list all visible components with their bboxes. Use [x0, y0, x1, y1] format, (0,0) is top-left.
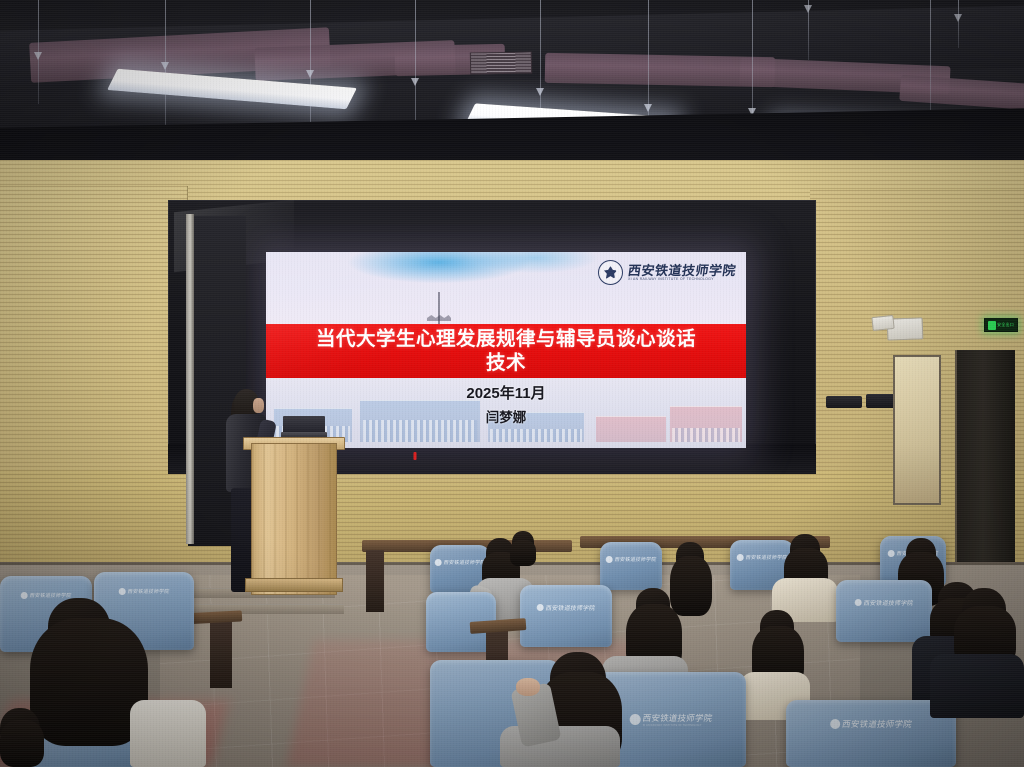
- seat-school-logo: 西安铁道技师学院: [21, 592, 72, 599]
- school-seal-icon: [598, 260, 623, 285]
- seat-school-logo: 西安铁道技师学院: [737, 554, 788, 561]
- desk-end-panel: [366, 550, 384, 612]
- seat-school-logo: 西安铁道技师学院 XI AN RAILWAY INSTITUTE OF TECH…: [630, 712, 713, 727]
- wall-bracket: [871, 315, 894, 331]
- seat-school-logo: 西安铁道技师学院: [855, 598, 914, 607]
- laptop-screen: [283, 416, 325, 433]
- seat-school-logo: 西安铁道技师学院: [119, 588, 170, 595]
- person-hair: [0, 720, 44, 767]
- seat-logo-text: 西安铁道技师学院: [841, 718, 913, 730]
- projection-screen: 西安铁道技师学院 XI AN RAILWAY INSTITUTE OF TECH…: [266, 252, 746, 448]
- seat-seal-icon: [435, 559, 442, 566]
- seat-logo-text: 西安铁道技师学院: [443, 559, 486, 566]
- campus-building-windows: [490, 429, 582, 442]
- slide-date: 2025年11月: [266, 382, 746, 403]
- air-vent-grille: [470, 51, 532, 74]
- podium-wood-grain: [252, 444, 336, 594]
- seat-seal-icon: [888, 550, 895, 557]
- seat-logo-text: 西安铁道技师学院: [127, 588, 170, 595]
- running-person-icon: [988, 321, 996, 330]
- lecture-hall-photo: 西安铁道技师学院 XI AN RAILWAY INSTITUTE OF TECH…: [0, 0, 1024, 767]
- seat-school-logo: 西安铁道技师学院: [537, 603, 596, 612]
- seat-seal-icon: [21, 592, 28, 599]
- seat-logo-text: 西安铁道技师学院: [545, 603, 596, 612]
- exit-sign-label: 安全出口: [997, 322, 1014, 328]
- exit-door[interactable]: [955, 350, 1015, 580]
- hanger-rod: [930, 0, 931, 126]
- seat-seal-icon: [537, 604, 544, 611]
- slide-title-banner: 当代大学生心理发展规律与辅导员谈心谈话 技术: [266, 324, 746, 378]
- seat-school-logo: 西安铁道技师学院: [830, 718, 912, 730]
- slide-author: 闫梦娜: [266, 406, 746, 426]
- person-torso: [930, 654, 1024, 718]
- seat-logo-text: 西安铁道技师学院: [29, 592, 72, 599]
- wall-speaker: [826, 396, 862, 408]
- antenna-tower-graphic: [438, 292, 440, 324]
- seat-seal-icon: [119, 588, 126, 595]
- seat-logo-text-en: XI AN RAILWAY INSTITUTE OF TECHNOLOGY: [643, 724, 713, 727]
- auditorium-seat: 西安铁道技师学院: [520, 585, 612, 647]
- seat-logo-text: 西安铁道技师学院: [642, 712, 714, 724]
- person-hand: [516, 678, 540, 696]
- person-hair: [510, 540, 536, 566]
- hanger-rod: [958, 0, 959, 48]
- hanger-cone-icon: [954, 14, 962, 22]
- auditorium-seat: 西安铁道技师学院: [836, 580, 932, 642]
- seat-seal-icon: [630, 714, 641, 725]
- seat-logo-text: 西安铁道技师学院: [614, 556, 657, 563]
- seat-seal-icon: [737, 554, 744, 561]
- school-logo-name-cn: 西安铁道技师学院: [627, 264, 737, 277]
- seat-school-logo: 西安铁道技师学院: [435, 559, 486, 566]
- person-torso: [130, 700, 206, 767]
- auditorium-seat: 西安铁道技师学院: [600, 542, 662, 590]
- hanger-cone-icon: [34, 52, 42, 60]
- door-sidelight-window: [893, 355, 941, 505]
- seat-school-logo: 西安铁道技师学院: [606, 556, 657, 563]
- podium-base: [245, 578, 343, 592]
- seat-logo-text: 西安铁道技师学院: [745, 554, 788, 561]
- doorway-trim: [186, 214, 194, 544]
- hanger-cone-icon: [306, 70, 314, 78]
- seat-seal-icon: [830, 719, 840, 729]
- slide-title-line-2: 技术: [486, 351, 526, 375]
- person-hair: [670, 556, 712, 616]
- seat-seal-icon: [606, 556, 613, 563]
- screen-status-led: [414, 452, 417, 460]
- school-logo: 西安铁道技师学院 XI AN RAILWAY INSTITUTE OF TECH…: [598, 260, 736, 285]
- hanger-cone-icon: [536, 88, 544, 96]
- seat-seal-icon: [855, 599, 862, 606]
- emergency-exit-sign: 安全出口: [984, 318, 1018, 332]
- hanger-cone-icon: [644, 104, 652, 112]
- presenter-face: [253, 398, 264, 413]
- hanger-cone-icon: [411, 78, 419, 86]
- campus-building-windows: [672, 428, 740, 442]
- desk-end-panel: [210, 618, 232, 688]
- ceiling-duct: [899, 75, 1024, 111]
- podium: [251, 443, 337, 595]
- hanger-cone-icon: [804, 5, 812, 13]
- slide-title-line-1: 当代大学生心理发展规律与辅导员谈心谈话: [316, 327, 696, 351]
- hanger-cone-icon: [161, 62, 169, 70]
- seat-logo-text: 西安铁道技师学院: [863, 598, 914, 607]
